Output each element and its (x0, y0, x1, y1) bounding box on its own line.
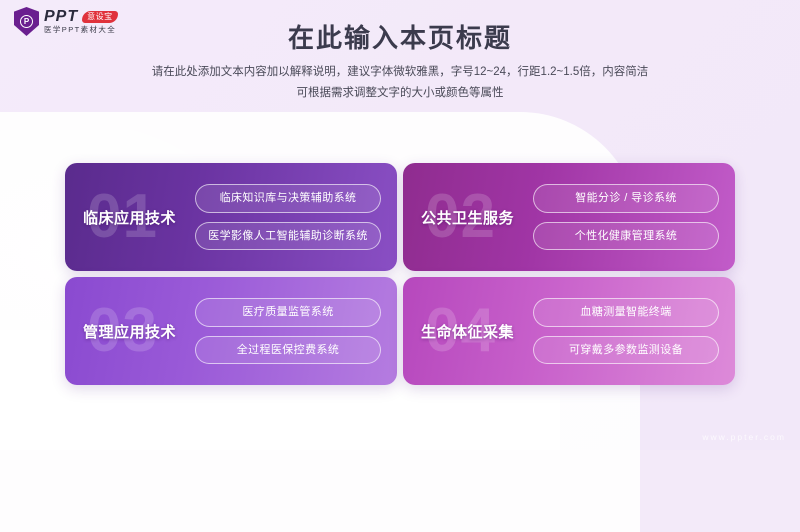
card-item-list: 医疗质量监管系统 全过程医保控费系统 (195, 298, 397, 363)
card-item-list: 智能分诊 / 导诊系统 个性化健康管理系统 (533, 184, 735, 249)
subtitle-line-1: 请在此处添加文本内容加以解释说明，建议字体微软雅黑，字号12~24，行距1.2~… (0, 62, 800, 83)
card-label: 临床应用技术 (83, 207, 195, 228)
card-item[interactable]: 医学影像人工智能辅助诊断系统 (195, 222, 381, 250)
shield-icon: P (14, 7, 39, 36)
brand-badge: 意设宝 (82, 11, 118, 23)
brand-name: PPT (44, 9, 78, 25)
card-item-list: 临床知识库与决策辅助系统 医学影像人工智能辅助诊断系统 (195, 184, 397, 249)
card-item[interactable]: 血糖测量智能终端 (533, 298, 719, 326)
card-item-list: 血糖测量智能终端 可穿戴多参数监测设备 (533, 298, 735, 363)
footer-watermark: www.ppter.com (702, 432, 786, 442)
card-label: 生命体征采集 (421, 321, 533, 342)
card-item[interactable]: 个性化健康管理系统 (533, 222, 719, 250)
card-item[interactable]: 可穿戴多参数监测设备 (533, 336, 719, 364)
card-item[interactable]: 医疗质量监管系统 (195, 298, 381, 326)
card-03[interactable]: 03 管理应用技术 医疗质量监管系统 全过程医保控费系统 (65, 277, 397, 385)
card-item[interactable]: 全过程医保控费系统 (195, 336, 381, 364)
page-title: 在此输入本页标题 (0, 18, 800, 55)
card-04[interactable]: 04 生命体征采集 血糖测量智能终端 可穿戴多参数监测设备 (403, 277, 735, 385)
card-01[interactable]: 01 临床应用技术 临床知识库与决策辅助系统 医学影像人工智能辅助诊断系统 (65, 163, 397, 271)
brand-top-row: PPT 意设宝 (44, 9, 118, 25)
subtitle-line-2: 可根据需求调整文字的大小或颜色等属性 (0, 83, 800, 104)
brand-text-block: PPT 意设宝 医学PPT素材大全 (44, 9, 118, 34)
card-label: 公共卫生服务 (421, 207, 533, 228)
card-item[interactable]: 临床知识库与决策辅助系统 (195, 184, 381, 212)
page-subtitle: 请在此处添加文本内容加以解释说明，建议字体微软雅黑，字号12~24，行距1.2~… (0, 62, 800, 105)
brand-tagline: 医学PPT素材大全 (44, 26, 118, 34)
card-label: 管理应用技术 (83, 321, 195, 342)
card-02[interactable]: 02 公共卫生服务 智能分诊 / 导诊系统 个性化健康管理系统 (403, 163, 735, 271)
brand-logo: P PPT 意设宝 医学PPT素材大全 (14, 7, 118, 36)
shield-letter: P (20, 15, 33, 28)
card-item[interactable]: 智能分诊 / 导诊系统 (533, 184, 719, 212)
card-grid: 01 临床应用技术 临床知识库与决策辅助系统 医学影像人工智能辅助诊断系统 02… (65, 163, 735, 385)
